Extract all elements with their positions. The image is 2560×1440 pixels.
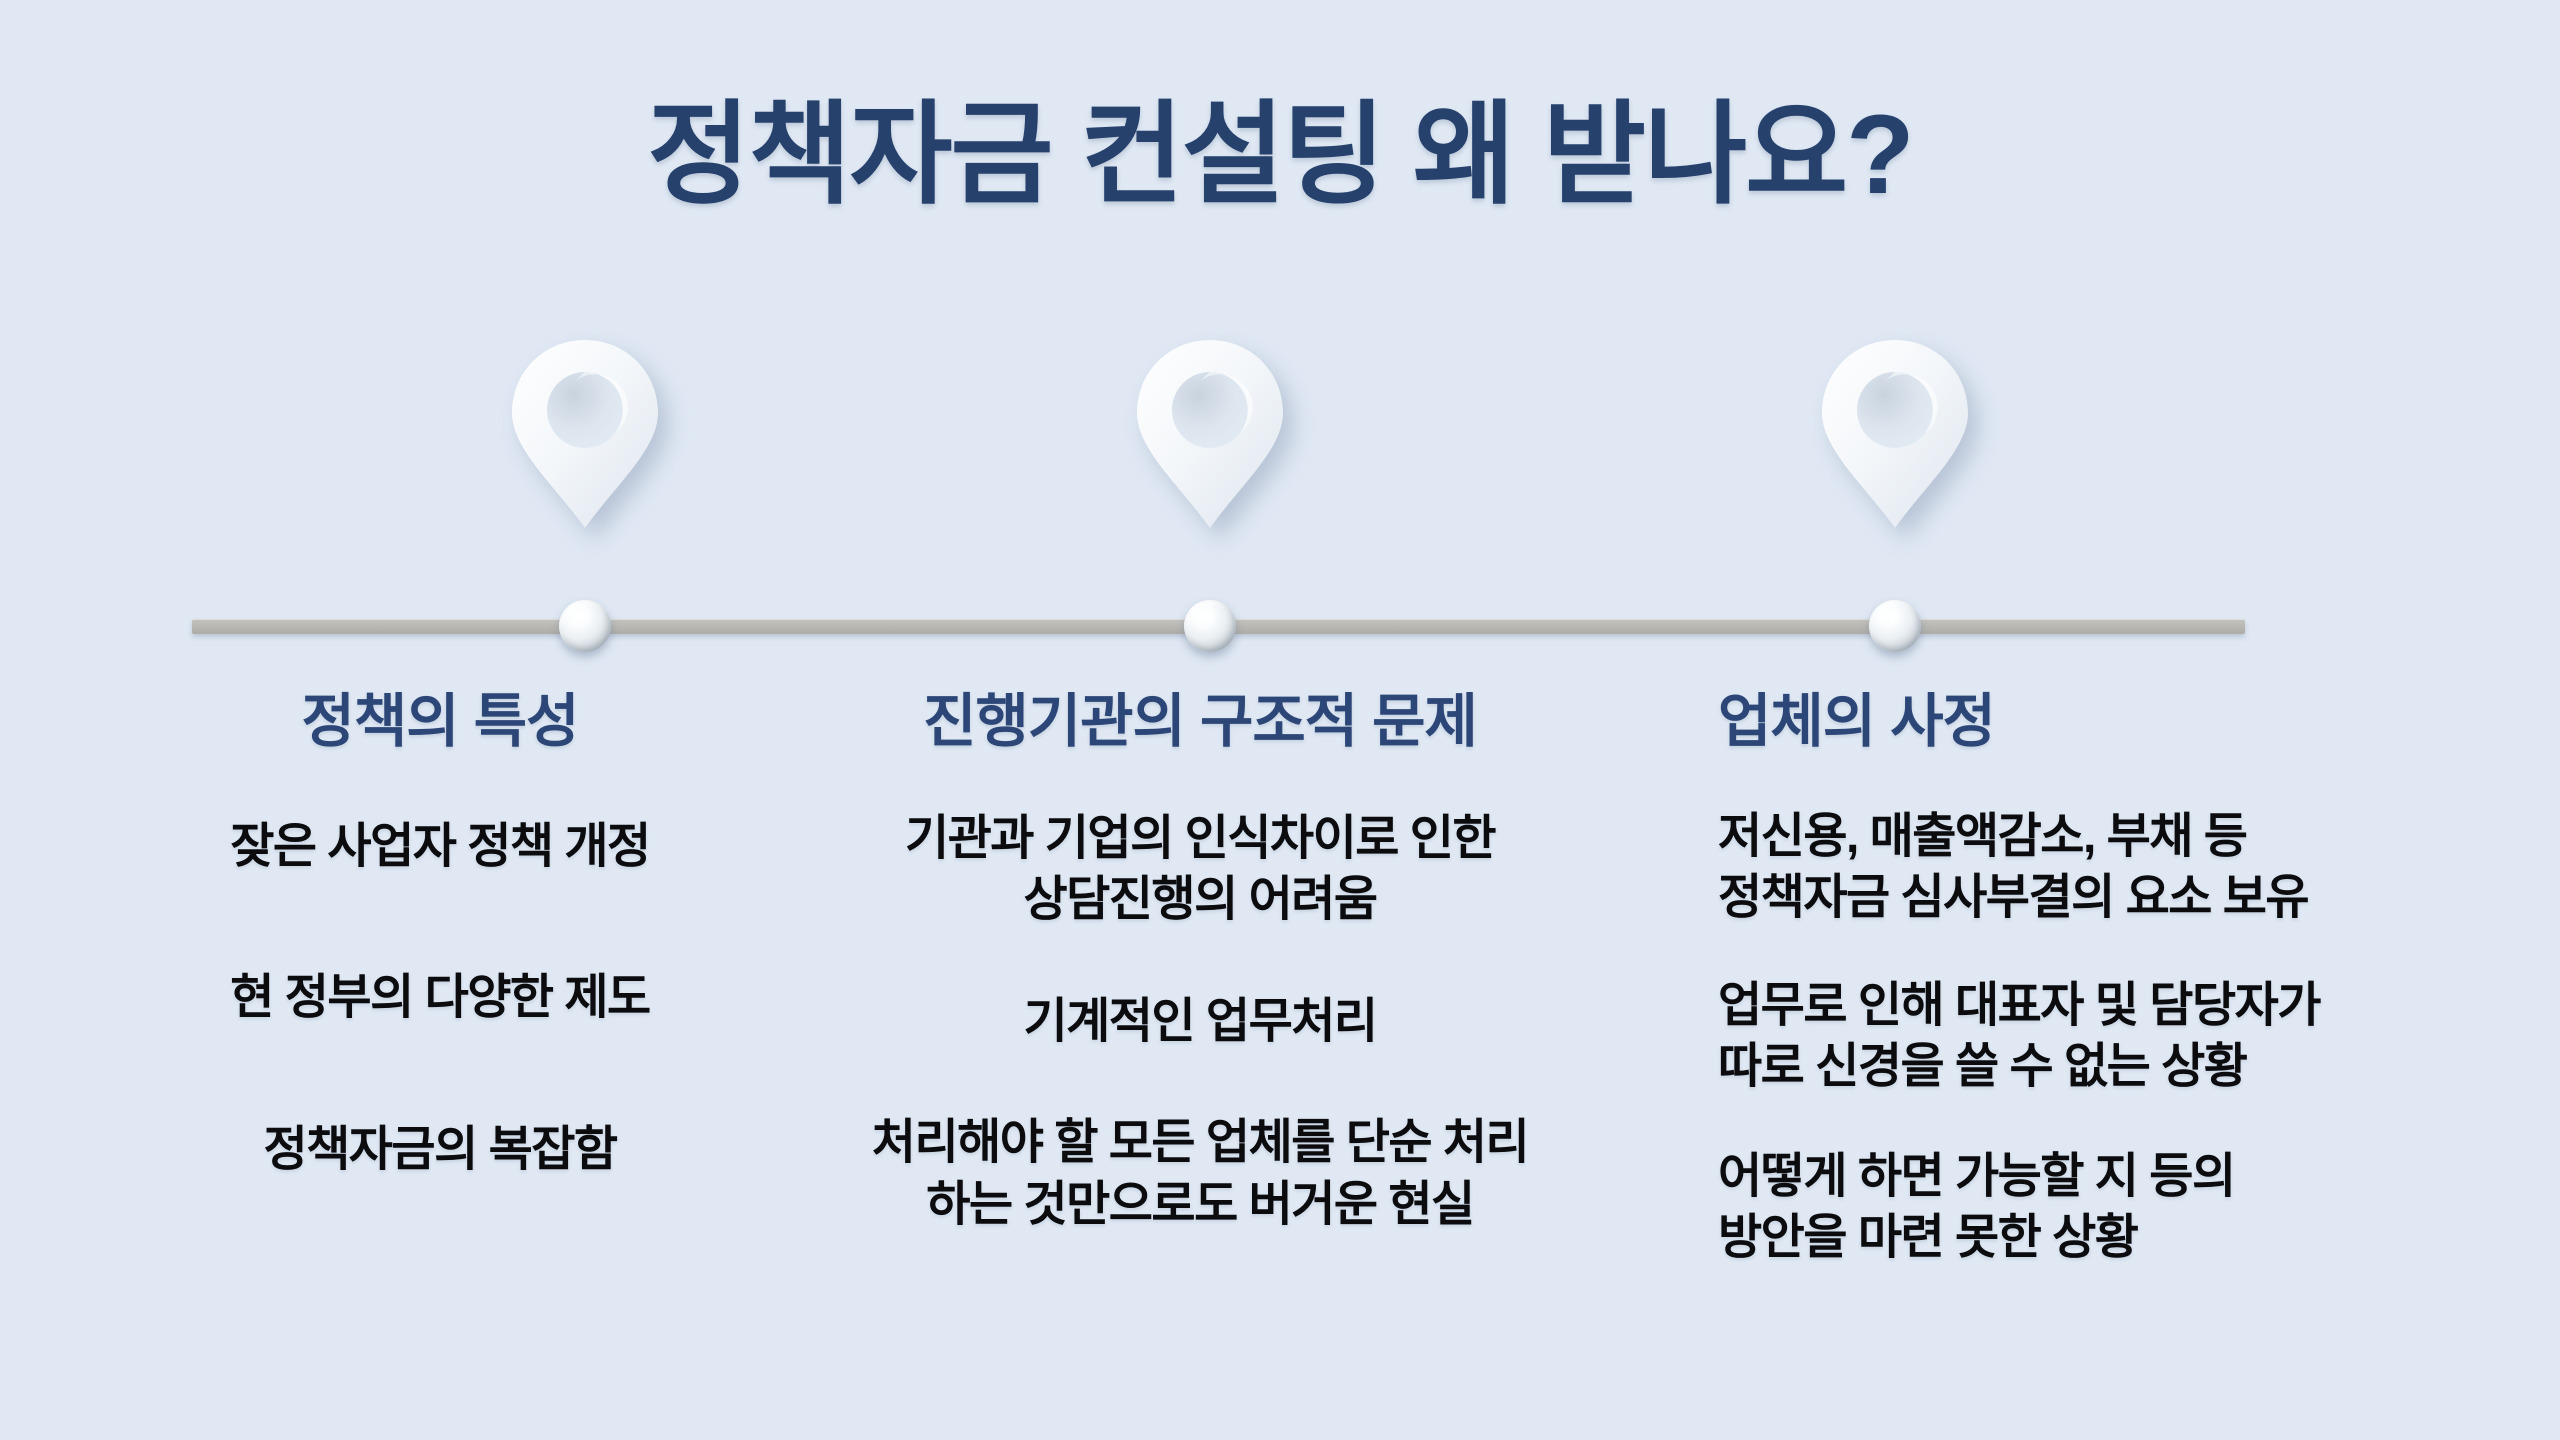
column-bullet-list: 잦은 사업자 정책 개정 현 정부의 다양한 제도 정책자금의 복잡함	[120, 816, 760, 1180]
map-pin-icon	[510, 336, 660, 532]
timeline-bead	[559, 600, 611, 652]
bullet-item: 저신용, 매출액감소, 부채 등 정책자금 심사부결의 요소 보유	[1718, 806, 2548, 929]
bullet-item: 잦은 사업자 정책 개정	[120, 816, 760, 877]
timeline-bead	[1869, 600, 1921, 652]
column-heading: 정책의 특성	[120, 690, 760, 754]
column-bullet-list: 기관과 기업의 인식차이로 인한 상담진행의 어려움 기계적인 업무처리 처리해…	[770, 808, 1630, 1235]
column-heading: 업체의 사정	[1718, 690, 2548, 754]
bullet-item: 업무로 인해 대표자 및 담당자가 따로 신경을 쓸 수 없는 상황	[1718, 975, 2548, 1098]
bullet-item: 현 정부의 다양한 제도	[120, 967, 760, 1028]
bullet-item: 기계적인 업무처리	[770, 991, 1630, 1052]
bullet-item: 어떻게 하면 가능할 지 등의 방안을 마련 못한 상황	[1718, 1146, 2548, 1269]
page-title: 정책자금 컨설팅 왜 받나요?	[0, 96, 2560, 214]
bullet-item: 정책자금의 복잡함	[120, 1119, 760, 1180]
column-policy-characteristics: 정책의 특성 잦은 사업자 정책 개정 현 정부의 다양한 제도 정책자금의 복…	[120, 690, 760, 1180]
bullet-item: 처리해야 할 모든 업체를 단순 처리 하는 것만으로도 버거운 현실	[770, 1112, 1630, 1235]
column-bullet-list: 저신용, 매출액감소, 부채 등 정책자금 심사부결의 요소 보유 업무로 인해…	[1718, 806, 2548, 1269]
column-institution-structural-issues: 진행기관의 구조적 문제 기관과 기업의 인식차이로 인한 상담진행의 어려움 …	[770, 690, 1630, 1235]
map-pin-icon	[1135, 336, 1285, 532]
timeline-bead	[1184, 600, 1236, 652]
column-company-situation: 업체의 사정 저신용, 매출액감소, 부채 등 정책자금 심사부결의 요소 보유…	[1718, 690, 2548, 1268]
bullet-item: 기관과 기업의 인식차이로 인한 상담진행의 어려움	[770, 808, 1630, 931]
column-heading: 진행기관의 구조적 문제	[770, 690, 1630, 754]
map-pin-icon	[1820, 336, 1970, 532]
